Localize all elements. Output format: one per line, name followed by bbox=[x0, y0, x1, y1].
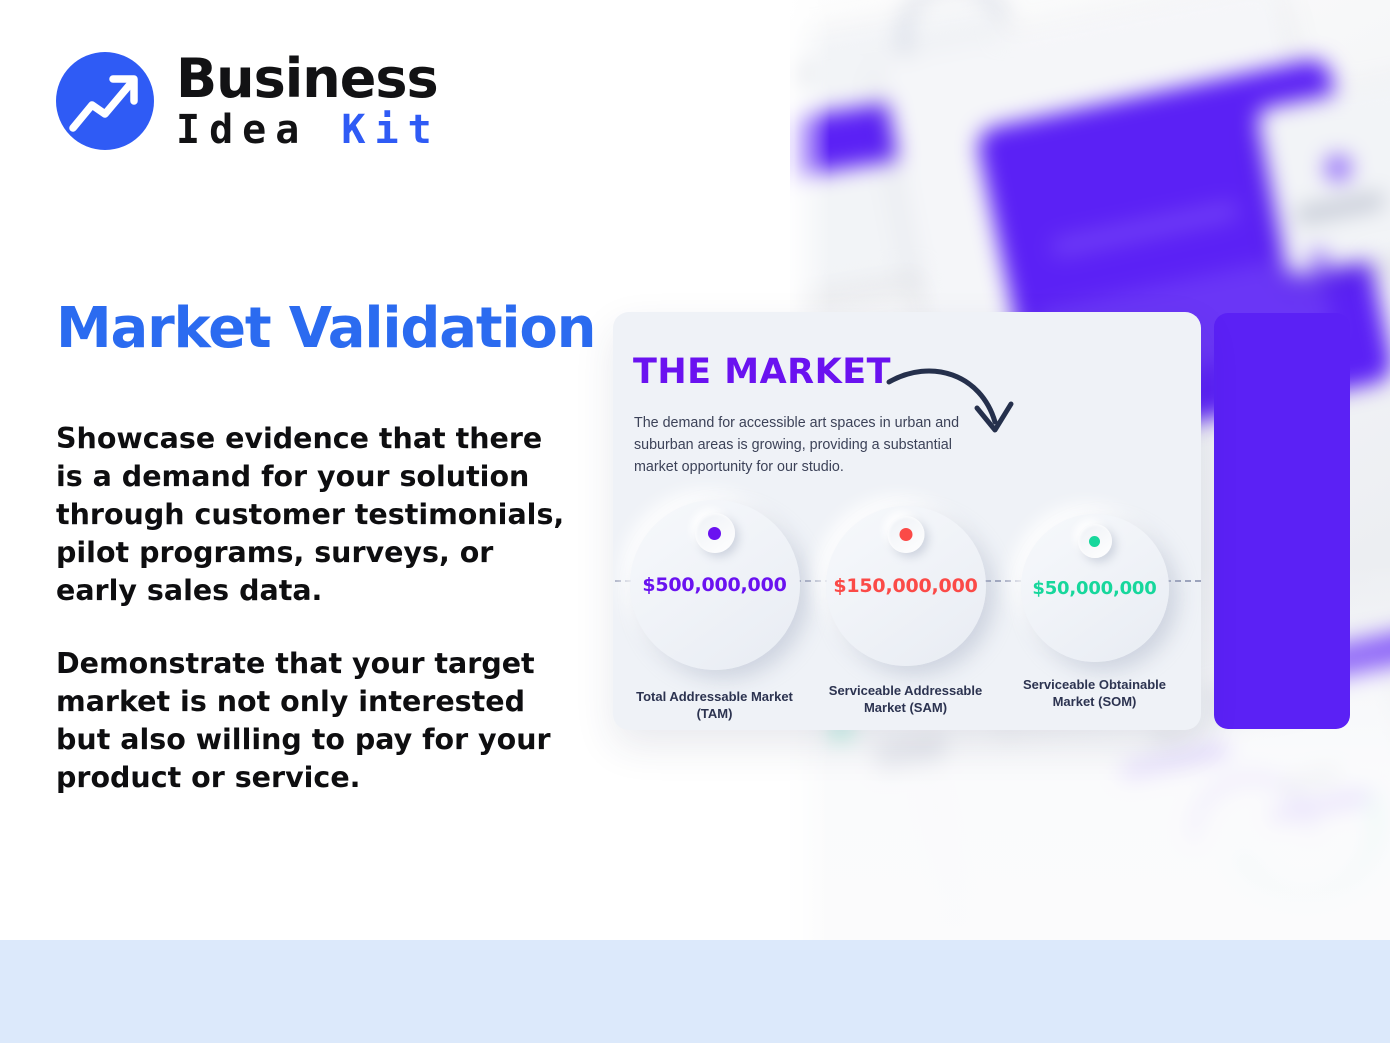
bg-dot-decoration bbox=[1325, 155, 1351, 181]
bg-dot-decoration bbox=[1310, 250, 1328, 268]
metric-tam: $500,000,000 Total Addressable Market (T… bbox=[623, 500, 806, 723]
market-metrics-row: $500,000,000 Total Addressable Market (T… bbox=[613, 500, 1201, 723]
brand-line-idea-kit: Idea Kit bbox=[176, 110, 441, 150]
red-status-dot-icon bbox=[887, 516, 924, 553]
body-paragraph-1: Showcase evidence that there is a demand… bbox=[56, 420, 566, 609]
metric-circle: $50,000,000 bbox=[1021, 514, 1169, 662]
brand-kit-text: Kit bbox=[341, 107, 440, 153]
status-dot bbox=[1089, 536, 1100, 547]
metric-circle: $150,000,000 bbox=[826, 506, 986, 666]
metric-label: Serviceable Addressable Market (SAM) bbox=[814, 682, 997, 717]
the-market-card: THE MARKET The demand for accessible art… bbox=[613, 312, 1201, 730]
metric-label: Serviceable Obtainable Market (SOM) bbox=[1003, 676, 1186, 711]
page-title: Market Validation bbox=[56, 296, 595, 361]
purple-accent-panel bbox=[1214, 313, 1350, 729]
status-dot bbox=[708, 527, 721, 540]
market-card-title: THE MARKET bbox=[633, 352, 891, 392]
brand-line-business: Business bbox=[176, 52, 441, 106]
bottom-accent-bar bbox=[0, 940, 1390, 1043]
growth-arrow-circle-icon bbox=[56, 52, 154, 150]
slide-root: Business Idea Kit Market Validation Show… bbox=[0, 0, 1390, 1043]
brand-wordmark: Business Idea Kit bbox=[176, 52, 441, 150]
brand-logo: Business Idea Kit bbox=[56, 52, 441, 150]
status-dot bbox=[899, 528, 912, 541]
metric-circle: $500,000,000 bbox=[630, 500, 800, 670]
curved-arrow-down-right-icon bbox=[885, 360, 1017, 447]
metric-label: Total Addressable Market (TAM) bbox=[623, 688, 806, 723]
body-paragraph-2: Demonstrate that your target market is n… bbox=[56, 645, 566, 797]
metric-amount: $500,000,000 bbox=[642, 574, 786, 596]
brand-idea-text: Idea bbox=[176, 107, 341, 153]
green-status-dot-icon bbox=[1078, 524, 1112, 558]
metric-sam: $150,000,000 Serviceable Addressable Mar… bbox=[814, 500, 997, 717]
metric-som: $50,000,000 Serviceable Obtainable Marke… bbox=[1003, 500, 1186, 711]
purple-status-dot-icon bbox=[695, 513, 735, 553]
metric-amount: $50,000,000 bbox=[1032, 578, 1156, 599]
metric-amount: $150,000,000 bbox=[833, 575, 977, 597]
